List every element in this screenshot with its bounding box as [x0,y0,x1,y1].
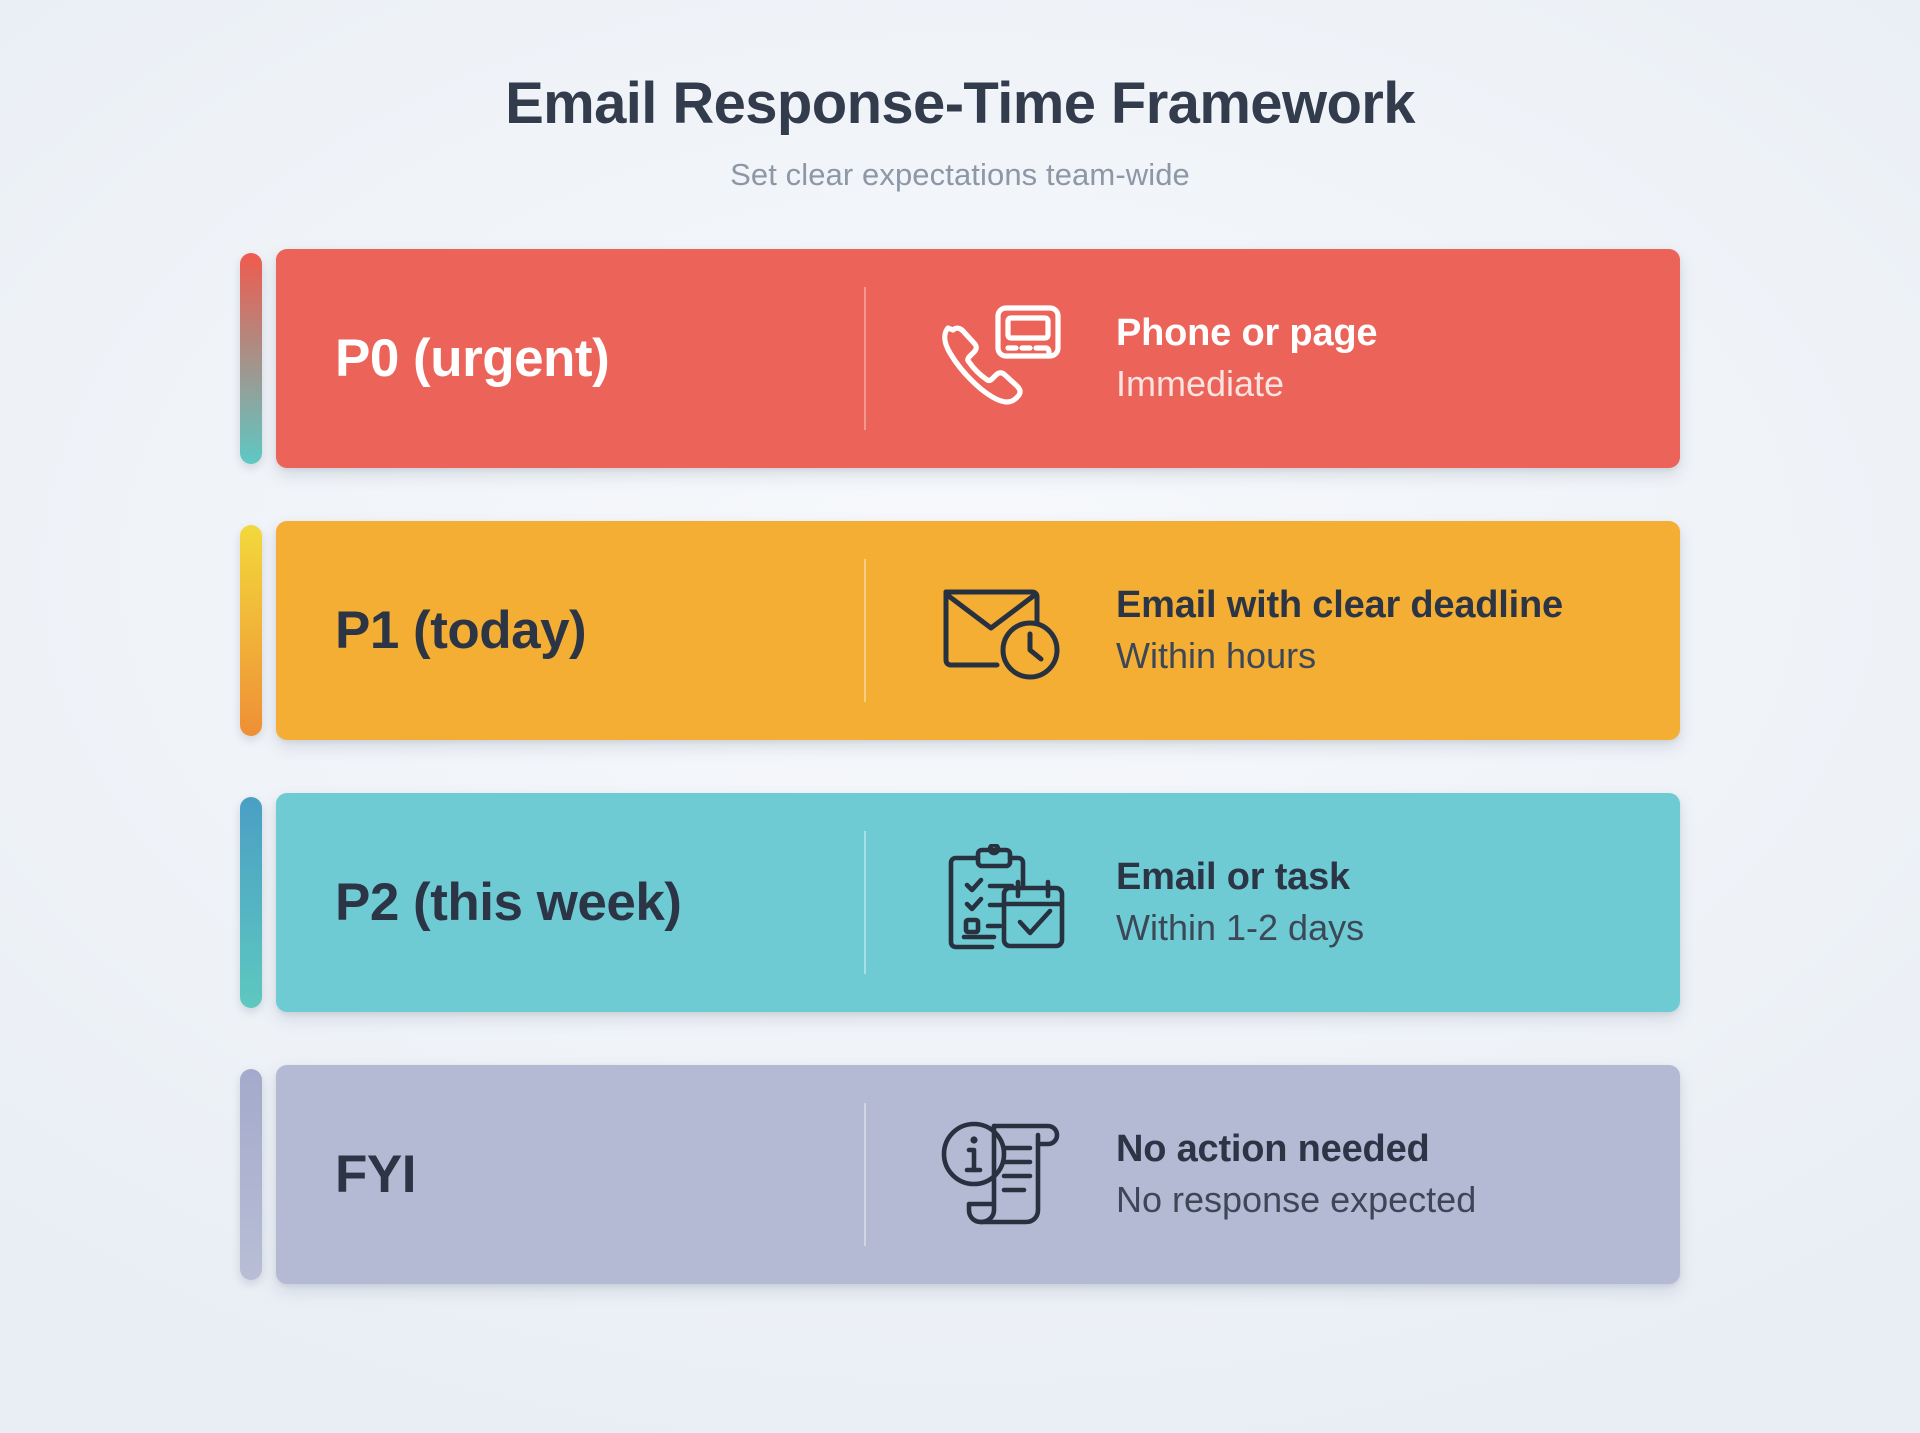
row-primary-text: Email or task [1116,855,1364,900]
row-text-block: Phone or page Immediate [1084,311,1377,406]
row-label-column: FYI [276,1065,864,1284]
envelope-clock-icon [938,574,1084,686]
row-secondary-text: Within 1-2 days [1116,906,1364,950]
row-accent-bar [240,525,262,736]
row-card[interactable]: P2 (this week) [276,793,1680,1012]
row-card[interactable]: FYI [276,1065,1680,1284]
row-label-column: P1 (today) [276,521,864,740]
priority-row[interactable]: P2 (this week) [240,793,1680,1012]
priority-row[interactable]: P1 (today) Email with clear [240,521,1680,740]
row-divider [864,831,866,974]
clipboard-calendar-icon [938,844,1084,960]
row-accent-bar [240,1069,262,1280]
priority-row[interactable]: P0 (urgent) Phone or page [240,249,1680,468]
row-divider [864,1103,866,1246]
row-detail-column: No action needed No response expected [866,1065,1680,1284]
page-title: Email Response-Time Framework [0,74,1920,135]
row-text-block: Email with clear deadline Within hours [1084,583,1563,678]
row-detail-column: Email with clear deadline Within hours [866,521,1680,740]
row-divider [864,287,866,430]
row-label-column: P2 (this week) [276,793,864,1012]
infographic-canvas: Email Response-Time Framework Set clear … [0,0,1920,1433]
row-secondary-text: Immediate [1116,362,1377,406]
page-subtitle: Set clear expectations team-wide [0,157,1920,193]
row-text-block: Email or task Within 1-2 days [1084,855,1364,950]
row-detail-column: Phone or page Immediate [866,249,1680,468]
priority-label: P2 (this week) [335,872,681,933]
row-text-block: No action needed No response expected [1084,1127,1476,1222]
phone-pager-icon [938,302,1084,414]
priority-row-list: P0 (urgent) Phone or page [240,249,1680,1284]
priority-row[interactable]: FYI [240,1065,1680,1284]
info-scroll-icon [938,1116,1084,1232]
row-primary-text: Email with clear deadline [1116,583,1563,628]
row-accent-bar [240,797,262,1008]
row-card[interactable]: P1 (today) Email with clear [276,521,1680,740]
row-accent-bar [240,253,262,464]
priority-label: FYI [335,1144,416,1205]
priority-label: P0 (urgent) [335,328,609,389]
row-secondary-text: No response expected [1116,1178,1476,1222]
row-label-column: P0 (urgent) [276,249,864,468]
row-primary-text: Phone or page [1116,311,1377,356]
row-card[interactable]: P0 (urgent) Phone or page [276,249,1680,468]
row-primary-text: No action needed [1116,1127,1476,1172]
header: Email Response-Time Framework Set clear … [0,0,1920,193]
row-detail-column: Email or task Within 1-2 days [866,793,1680,1012]
priority-label: P1 (today) [335,600,586,661]
row-divider [864,559,866,702]
row-secondary-text: Within hours [1116,634,1563,678]
